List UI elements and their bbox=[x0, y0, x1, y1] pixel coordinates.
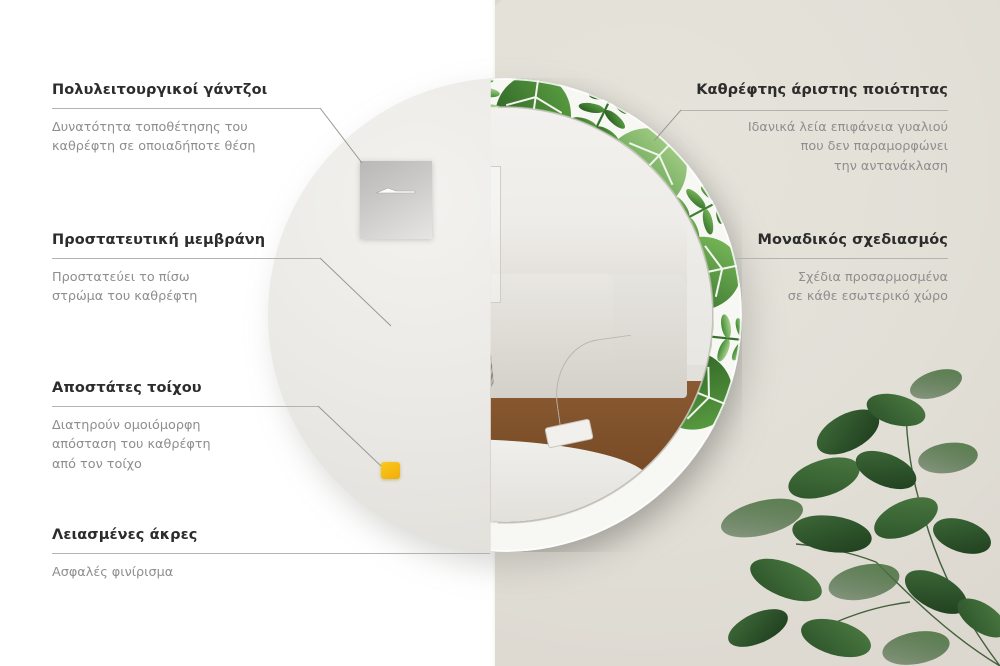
callout-description: Ιδανικά λεία επιφάνεια γυαλιού που δεν π… bbox=[668, 118, 948, 176]
foreground-plant-decoration bbox=[700, 366, 1000, 666]
callout-title: Καθρέφτης άριστης ποιότητας bbox=[696, 82, 948, 98]
callout-rule bbox=[52, 406, 318, 407]
callout-description: Προστατεύει το πίσω στρώμα του καθρέφτη bbox=[52, 268, 302, 307]
product-infographic: Πολυλειτουργικοί γάντζοι Δυνατότητα τοπο… bbox=[0, 0, 1000, 666]
callout-title: Πολυλειτουργικοί γάντζοι bbox=[52, 82, 267, 98]
callout-rule bbox=[52, 258, 320, 259]
callout-title: Λειασμένες άκρες bbox=[52, 527, 197, 543]
mounting-hook-plate bbox=[360, 161, 432, 239]
callout-description: Ασφαλές φινίρισμα bbox=[52, 563, 302, 582]
callout-title: Αποστάτες τοίχου bbox=[52, 380, 202, 396]
callout-rule bbox=[735, 258, 948, 259]
callout-rule bbox=[52, 553, 490, 554]
callout-description: Σχέδια προσαρμοσμένα σε κάθε εσωτερικό χ… bbox=[668, 268, 948, 307]
callout-title: Προστατευτική μεμβράνη bbox=[52, 232, 265, 248]
callout-description: Διατηρούν ομοιόμορφη απόσταση του καθρέφ… bbox=[52, 416, 302, 474]
callout-description: Δυνατότητα τοποθέτησης του καθρέφτη σε ο… bbox=[52, 118, 302, 157]
hook-bracket-icon bbox=[374, 181, 418, 190]
callout-title: Μοναδικός σχεδιασμός bbox=[757, 232, 948, 248]
callout-rule bbox=[52, 108, 320, 109]
callout-rule bbox=[681, 110, 948, 111]
wall-spacer-chip bbox=[381, 462, 400, 479]
